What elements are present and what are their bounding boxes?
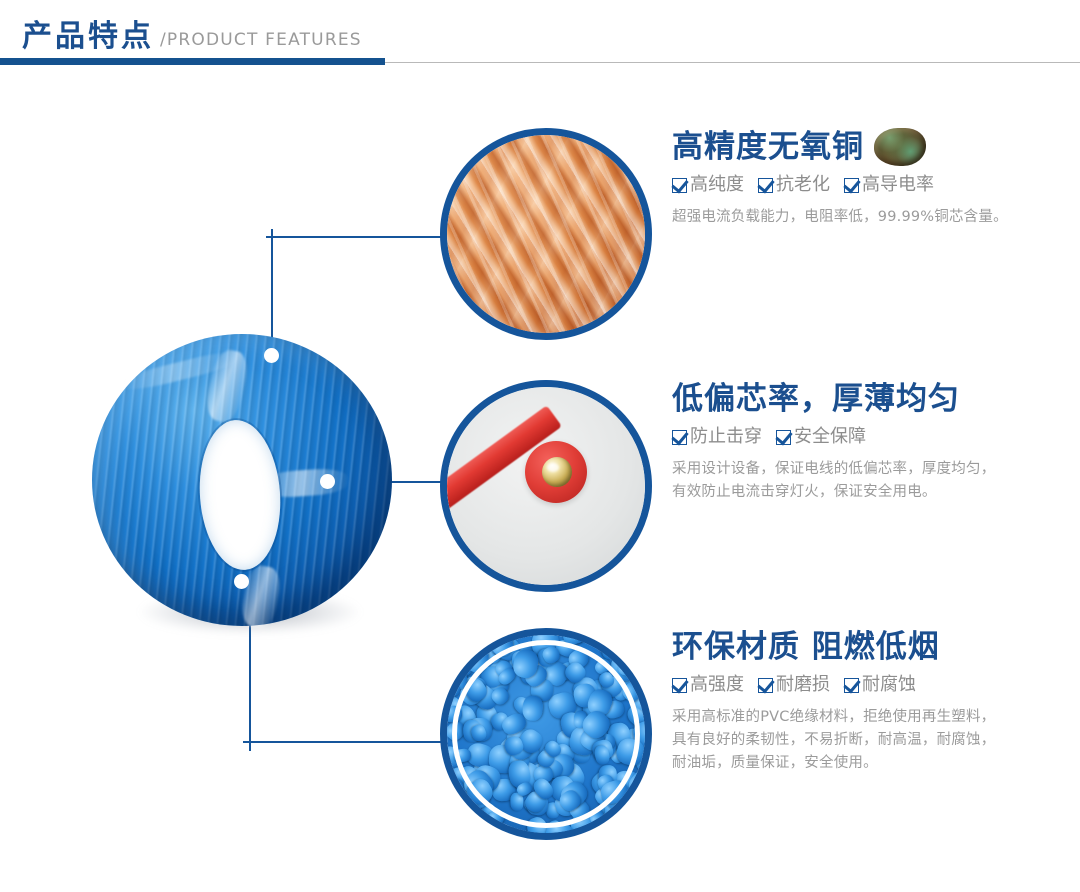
callout-dot-bottom[interactable] <box>234 574 249 589</box>
feature-heading: 环保材质 阻燃低烟 <box>672 628 940 666</box>
feature-tag: 高导电率 <box>844 175 934 195</box>
feature-description: 采用设计设备，保证电线的低偏芯率，厚度均匀， 有效防止电流击穿灯火，保证安全用电… <box>672 458 1080 504</box>
pvc-pellet <box>522 695 544 722</box>
feature-tag: 抗老化 <box>758 175 830 195</box>
checkmark-icon <box>776 430 791 445</box>
feature-heading: 高精度无氧铜 <box>672 128 864 166</box>
feature-tag-label: 高纯度 <box>690 175 744 195</box>
coil-highlight <box>239 564 283 631</box>
pvc-pellet <box>640 637 645 656</box>
checkmark-icon <box>844 178 859 193</box>
feature-text-copper: 高精度无氧铜 高纯度 抗老化 高导电率 超强电流负载能力，电阻率低，99.99%… <box>672 128 1080 229</box>
page-header: 产品特点 /PRODUCT FEATURES <box>0 0 1080 72</box>
checkmark-icon <box>758 178 773 193</box>
feature-description-line: 超强电流负载能力，电阻率低，99.99%铜芯含量。 <box>672 206 1080 229</box>
feature-tag-label: 高导电率 <box>862 175 934 195</box>
feature-description-line: 具有良好的柔韧性，不易折断，耐高温，耐腐蚀， <box>672 729 1080 752</box>
photo-content <box>447 135 645 333</box>
copper-ore-icon <box>874 128 926 166</box>
red-wire-cross-section-photo <box>440 380 652 592</box>
photo-content <box>447 635 645 833</box>
feature-description: 超强电流负载能力，电阻率低，99.99%铜芯含量。 <box>672 206 1080 229</box>
feature-tag-list: 高纯度 抗老化 高导电率 <box>672 175 1080 195</box>
feature-tag-label: 安全保障 <box>794 427 866 447</box>
checkmark-icon <box>758 678 773 693</box>
feature-tag: 防止击穿 <box>672 427 762 447</box>
coil-center-hole <box>195 417 285 572</box>
header-accent-bar <box>0 58 385 65</box>
blue-pvc-pellets-photo <box>440 628 652 840</box>
feature-description-line: 耐油垢，质量保证，安全使用。 <box>672 752 1080 775</box>
product-wire-coil-image <box>92 322 392 682</box>
feature-tag-label: 抗老化 <box>776 175 830 195</box>
feature-tag-label: 耐磨损 <box>776 675 830 695</box>
feature-tag: 高纯度 <box>672 175 744 195</box>
feature-tag: 耐腐蚀 <box>844 675 916 695</box>
feature-description: 采用高标准的PVC绝缘材料，拒绝使用再生塑料， 具有良好的柔韧性，不易折断，耐高… <box>672 706 1080 775</box>
feature-text-material: 环保材质 阻燃低烟 高强度 耐磨损 耐腐蚀 采用高标准的PVC绝缘材料，拒绝使用… <box>672 628 1080 775</box>
callout-dot-middle[interactable] <box>320 474 335 489</box>
checkmark-icon <box>672 178 687 193</box>
feature-tag-list: 高强度 耐磨损 耐腐蚀 <box>672 675 1080 695</box>
feature-description-line: 有效防止电流击穿灯火，保证安全用电。 <box>672 481 1080 504</box>
photo-content <box>447 387 645 585</box>
feature-tag-list: 防止击穿 安全保障 <box>672 427 1080 447</box>
checkmark-icon <box>844 678 859 693</box>
feature-heading: 低偏芯率，厚薄均匀 <box>672 380 960 418</box>
page-title: 产品特点 <box>22 20 154 54</box>
feature-description-line: 采用高标准的PVC绝缘材料，拒绝使用再生塑料， <box>672 706 1080 729</box>
feature-tag-label: 防止击穿 <box>690 427 762 447</box>
feature-tag-label: 高强度 <box>690 675 744 695</box>
checkmark-icon <box>672 430 687 445</box>
feature-tag-label: 耐腐蚀 <box>862 675 916 695</box>
copper-wire-coils-photo <box>440 128 652 340</box>
callout-dot-top[interactable] <box>264 348 279 363</box>
feature-text-concentricity: 低偏芯率，厚薄均匀 防止击穿 安全保障 采用设计设备，保证电线的低偏芯率，厚度均… <box>672 380 1080 504</box>
feature-description-line: 采用设计设备，保证电线的低偏芯率，厚度均匀， <box>672 458 1080 481</box>
feature-tag: 耐磨损 <box>758 675 830 695</box>
copper-core <box>542 457 572 487</box>
feature-tag: 高强度 <box>672 675 744 695</box>
page-subtitle: /PRODUCT FEATURES <box>160 29 362 51</box>
checkmark-icon <box>672 678 687 693</box>
feature-tag: 安全保障 <box>776 427 866 447</box>
